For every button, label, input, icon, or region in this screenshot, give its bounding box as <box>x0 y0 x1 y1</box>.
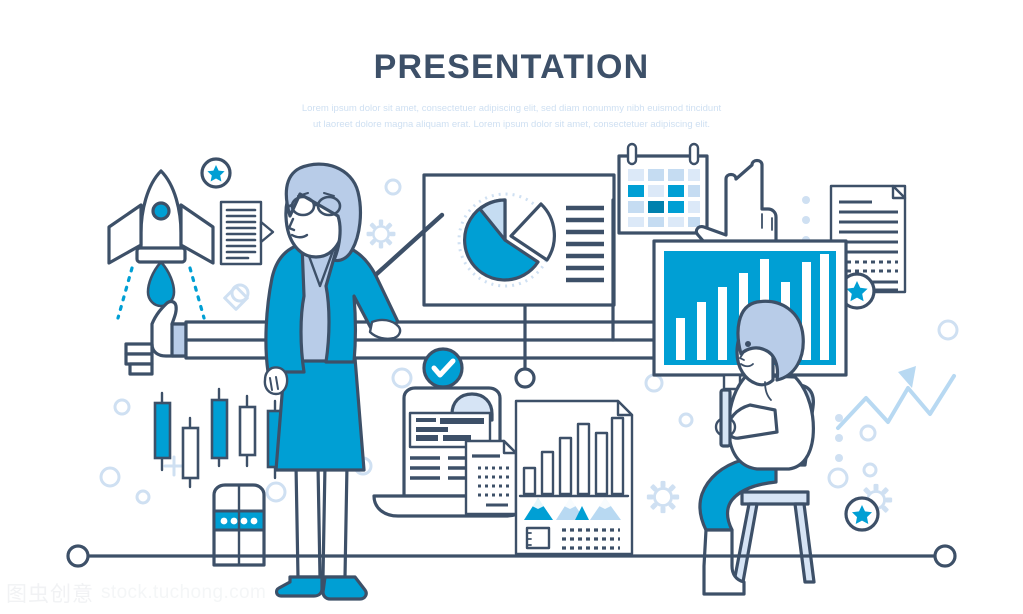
check-badge-icon <box>424 349 462 387</box>
server-rack-icon <box>214 485 264 565</box>
star-badge <box>846 498 878 530</box>
pie-legend <box>566 208 604 280</box>
rocket-launch-icon <box>109 171 213 318</box>
document-with-arrow <box>221 202 273 264</box>
star-badge <box>202 159 230 187</box>
document-overlay <box>466 441 516 514</box>
baseline <box>68 546 955 566</box>
presentation-illustration: .ln{fill:none;stroke:#3d5068;stroke-widt… <box>0 0 1023 614</box>
report-document <box>516 401 632 554</box>
trend-up-arrow <box>838 366 954 428</box>
illustration-canvas: .ln{fill:none;stroke:#3d5068;stroke-widt… <box>0 0 1023 614</box>
presenter-woman <box>265 164 442 599</box>
